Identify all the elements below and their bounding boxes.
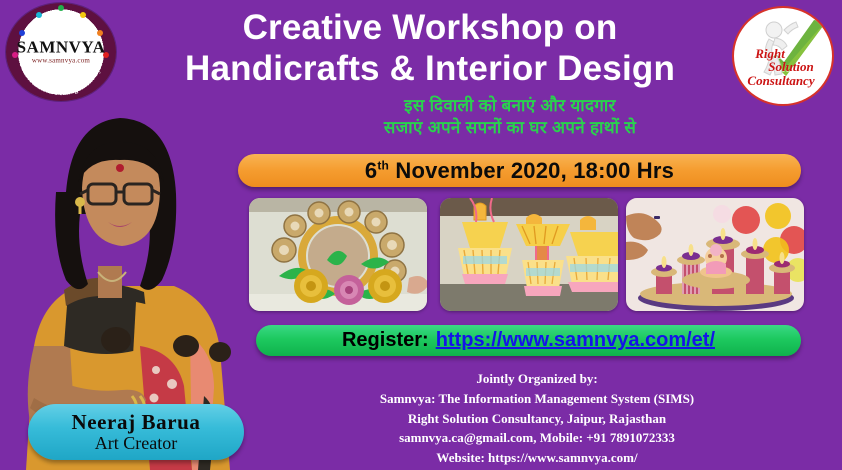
checkmark-person-icon bbox=[734, 8, 832, 104]
presenter-name: Neeraj Barua bbox=[71, 411, 200, 434]
title-line-1: Creative Workshop on bbox=[150, 8, 710, 49]
register-label: Register: bbox=[342, 329, 429, 352]
presenter-role: Art Creator bbox=[95, 434, 177, 454]
poster-title: Creative Workshop on Handicrafts & Inter… bbox=[150, 8, 710, 90]
register-banner[interactable]: Register: https://www.samnvya.com/et/ bbox=[256, 325, 801, 356]
date-time-text: 6th November 2020, 18:00 Hrs bbox=[365, 158, 674, 184]
footer-line-3: Right Solution Consultancy, Jaipur, Raja… bbox=[242, 409, 832, 429]
right-solution-consultancy-logo: Right Solution Consultancy bbox=[732, 6, 834, 106]
hindi-tagline-line-1: इस दिवाली को बनाएं और यादगार bbox=[300, 95, 720, 117]
presenter-name-badge: Neeraj Barua Art Creator bbox=[28, 404, 244, 460]
logo-dot-orange bbox=[97, 30, 103, 36]
footer-line-2: Samnvya: The Information Management Syst… bbox=[242, 389, 832, 409]
diwali-diya-stand-icon bbox=[626, 198, 804, 311]
footer-line-4: samnvya.ca@gmail.com, Mobile: +91 789107… bbox=[242, 428, 832, 448]
hindi-tagline: इस दिवाली को बनाएं और यादगार सजाएं अपने … bbox=[300, 95, 720, 139]
date-ordinal: th bbox=[377, 158, 389, 172]
poster-canvas: The Information Management System SAMNVY… bbox=[0, 0, 842, 470]
logo-dot-cyan bbox=[36, 12, 42, 18]
samnvya-logo: The Information Management System SAMNVY… bbox=[6, 3, 116, 101]
date-day: 6 bbox=[365, 158, 377, 183]
logo-dot-yellow bbox=[80, 12, 86, 18]
date-rest: November 2020, 18:00 Hrs bbox=[389, 158, 674, 183]
footer-line-5: Website: https://www.samnvya.com/ bbox=[242, 448, 832, 468]
paper-rose-wreath-icon bbox=[249, 198, 427, 311]
paper-lanterns-icon bbox=[440, 198, 618, 311]
workshop-photo-wreath bbox=[249, 198, 427, 311]
footer-credits: Jointly Organized by: Samnvya: The Infor… bbox=[242, 369, 832, 468]
title-line-2: Handicrafts & Interior Design bbox=[150, 49, 710, 90]
workshop-photo-diya-stand bbox=[626, 198, 804, 311]
date-time-banner: 6th November 2020, 18:00 Hrs bbox=[238, 154, 801, 187]
footer-line-1: Jointly Organized by: bbox=[242, 369, 832, 389]
logo-dot-green bbox=[58, 5, 64, 11]
workshop-photo-lanterns bbox=[440, 198, 618, 311]
samnvya-logo-url: www.samnvya.com bbox=[32, 57, 90, 65]
samnvya-wordmark: SAMNVYA bbox=[17, 39, 106, 56]
hindi-tagline-line-2: सजाएं अपने सपनों का घर अपने हाथों से bbox=[300, 117, 720, 139]
samnvya-logo-inner: SAMNVYA www.samnvya.com bbox=[20, 16, 101, 89]
register-link[interactable]: https://www.samnvya.com/et/ bbox=[436, 329, 715, 352]
